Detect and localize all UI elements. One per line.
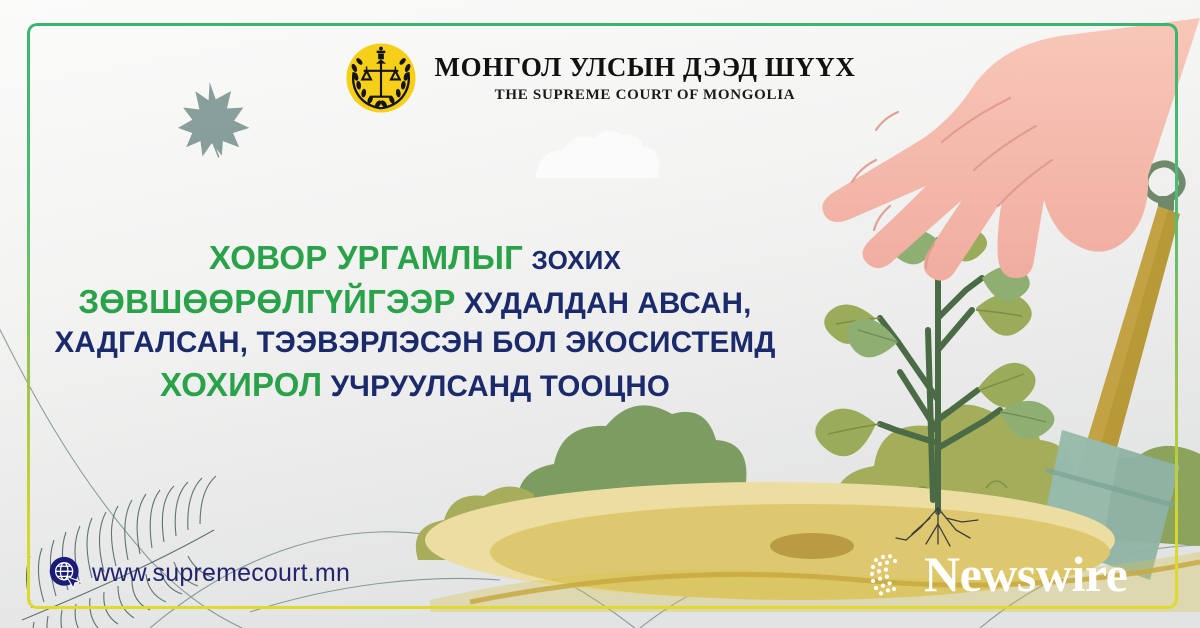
website-row[interactable]: www.supremecourt.mn [48, 556, 350, 590]
headline-segment: ХУДАЛДАН АВСАН, [464, 287, 752, 320]
headline-segment: ЗӨВШӨӨРӨЛГҮЙГЭЭР [78, 283, 455, 320]
header: МОНГОЛ УЛСЫН ДЭЭД ШҮҮХ THE SUPREME COURT… [0, 42, 1200, 114]
headline-line: ХАДГАЛСАН, ТЭЭВЭРЛЭСЭН БОЛ ЭКОСИСТЕМД [20, 324, 810, 363]
headline-text: ХОВОР УРГАМЛЫГ ЗОХИХЗӨВШӨӨРӨЛГҮЙГЭЭР ХУД… [20, 236, 810, 407]
headline-segment: ХОХИРОЛ [160, 366, 322, 403]
headline-line: ХОВОР УРГАМЛЫГ ЗОХИХ [20, 236, 810, 280]
scales-of-justice-emblem-icon [345, 42, 417, 114]
court-name-mn: МОНГОЛ УЛСЫН ДЭЭД ШҮҮХ [435, 52, 856, 83]
headline-line: ХОХИРОЛ УЧРУУЛСАНД ТООЦНО [20, 363, 810, 407]
website-url[interactable]: www.supremecourt.mn [92, 559, 350, 588]
headline-segment: УЧРУУЛСАНД ТООЦНО [331, 370, 670, 403]
crescent-dots-icon [866, 548, 922, 600]
newswire-label: Newswire [924, 549, 1127, 599]
headline-segment: ЗОХИХ [532, 245, 622, 275]
court-name-en: THE SUPREME COURT OF MONGOLIA [495, 87, 796, 104]
headline-segment: ХОВОР УРГАМЛЫГ [209, 239, 523, 276]
header-text-block: МОНГОЛ УЛСЫН ДЭЭД ШҮҮХ THE SUPREME COURT… [435, 52, 856, 103]
planting-hole [770, 533, 854, 559]
poster-canvas: МОНГОЛ УЛСЫН ДЭЭД ШҮҮХ THE SUPREME COURT… [0, 0, 1200, 628]
globe-cursor-icon [48, 556, 82, 590]
headline-segment: ХАДГАЛСАН, ТЭЭВЭРЛЭСЭН БОЛ ЭКОСИСТЕМД [54, 326, 775, 359]
headline-line: ЗӨВШӨӨРӨЛГҮЙГЭЭР ХУДАЛДАН АВСАН, [20, 280, 810, 324]
newswire-logo: Newswire [866, 548, 1127, 600]
